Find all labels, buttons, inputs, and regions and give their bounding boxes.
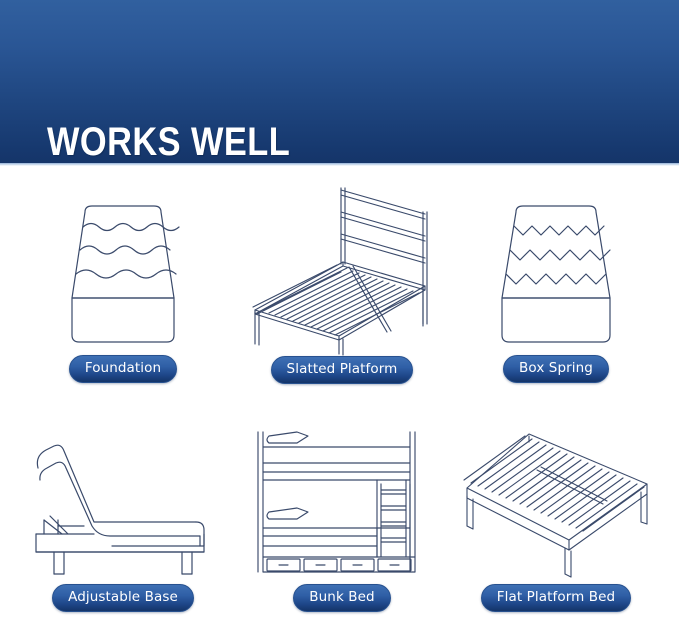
base-label-adjustable-base[interactable]: Adjustable Base	[52, 584, 194, 612]
base-card-adjustable-base: Adjustable Base	[10, 416, 236, 612]
base-label-bunk-bed[interactable]: Bunk Bed	[293, 584, 390, 612]
flat-platform-bed-illustration	[451, 422, 661, 584]
page-title-line-1: WORKS WELL	[47, 120, 394, 163]
base-card-foundation: Foundation	[10, 180, 236, 383]
header-banner: WORKS WELL WITH THESE BASES	[0, 0, 679, 163]
adjustable-base-illustration-wrap	[10, 416, 236, 584]
works-well-with-these-bases-infographic: WORKS WELL WITH THESE BASES	[0, 0, 679, 636]
adjustable-base-illustration	[16, 416, 231, 584]
box-spring-illustration-wrap	[443, 180, 669, 355]
slatted-platform-bed-illustration	[237, 176, 447, 356]
flat-platform-bed-illustration-wrap	[443, 422, 669, 584]
base-card-box-spring: Box Spring	[443, 180, 669, 383]
box-spring-illustration	[456, 180, 656, 355]
base-card-bunk-bed: Bunk Bed	[229, 414, 455, 612]
base-label-box-spring[interactable]: Box Spring	[503, 355, 609, 383]
foundation-illustration-wrap	[10, 180, 236, 355]
base-card-flat-platform-bed: Flat Platform Bed	[443, 422, 669, 612]
bases-grid: Foundation	[0, 166, 679, 636]
base-label-slatted-platform[interactable]: Slatted Platform	[271, 356, 414, 384]
slatted-platform-illustration-wrap	[229, 176, 455, 356]
bunk-bed-illustration-wrap	[229, 414, 455, 584]
bunk-bed-illustration	[242, 414, 442, 584]
base-label-foundation[interactable]: Foundation	[69, 355, 177, 383]
base-label-flat-platform-bed[interactable]: Flat Platform Bed	[481, 584, 631, 612]
foundation-mattress-illustration	[23, 180, 223, 355]
base-card-slatted-platform: Slatted Platform	[229, 176, 455, 384]
page-title: WORKS WELL WITH THESE BASES	[47, 30, 394, 163]
